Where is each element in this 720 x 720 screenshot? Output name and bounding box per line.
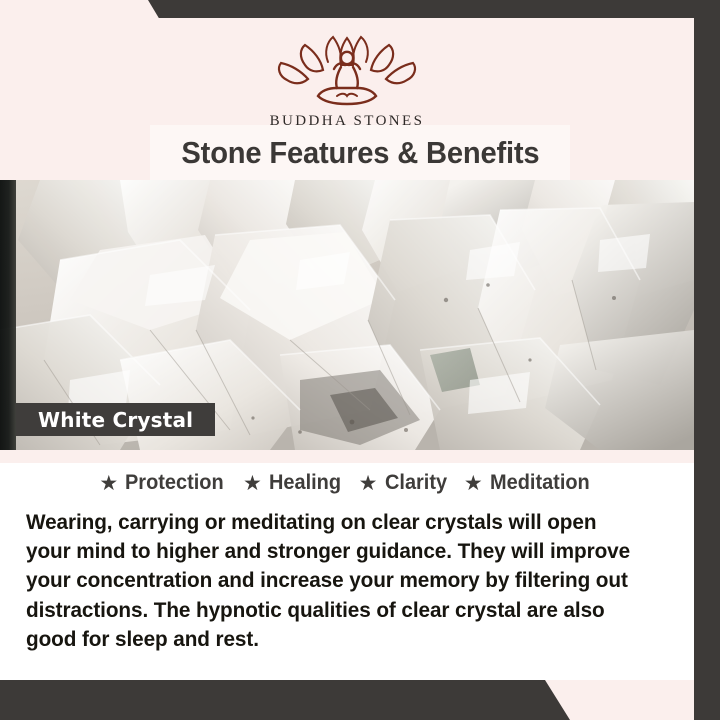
- benefit-label: Clarity: [385, 471, 447, 495]
- frame-right-bar: [694, 0, 720, 720]
- photo-content-divider: [0, 450, 694, 463]
- star-icon: ★: [243, 473, 262, 494]
- description-paragraph: Wearing, carrying or meditating on clear…: [26, 508, 646, 654]
- star-icon: ★: [464, 473, 483, 494]
- lotus-meditation-figure-icon: [271, 32, 423, 110]
- title-banner: Stone Features & Benefits: [150, 125, 570, 180]
- brand-logo: BUDDHA STONES: [0, 32, 694, 130]
- benefit-label: Healing: [269, 471, 341, 495]
- content-section: ★ Protection ★ Healing ★ Clarity ★ Medit…: [0, 463, 694, 680]
- benefit-item-protection: ★ Protection: [99, 471, 229, 495]
- infographic-card: BUDDHA STONES Stone Features & Benefits: [0, 0, 720, 720]
- page-title: Stone Features & Benefits: [181, 135, 539, 171]
- benefit-item-healing: ★ Healing: [243, 471, 345, 495]
- benefit-item-meditation: ★ Meditation: [464, 471, 595, 495]
- photo-left-shadow: [0, 180, 16, 450]
- photo-caption-chip: White Crystal: [16, 403, 215, 436]
- benefits-row: ★ Protection ★ Healing ★ Clarity ★ Medit…: [0, 463, 694, 495]
- benefit-label: Meditation: [490, 471, 590, 495]
- star-icon: ★: [359, 473, 378, 494]
- photo-caption-label: White Crystal: [38, 408, 193, 432]
- benefit-item-clarity: ★ Clarity: [359, 471, 450, 495]
- star-icon: ★: [99, 473, 118, 494]
- frame-bottom-bar: [0, 680, 720, 720]
- benefit-label: Protection: [125, 471, 224, 495]
